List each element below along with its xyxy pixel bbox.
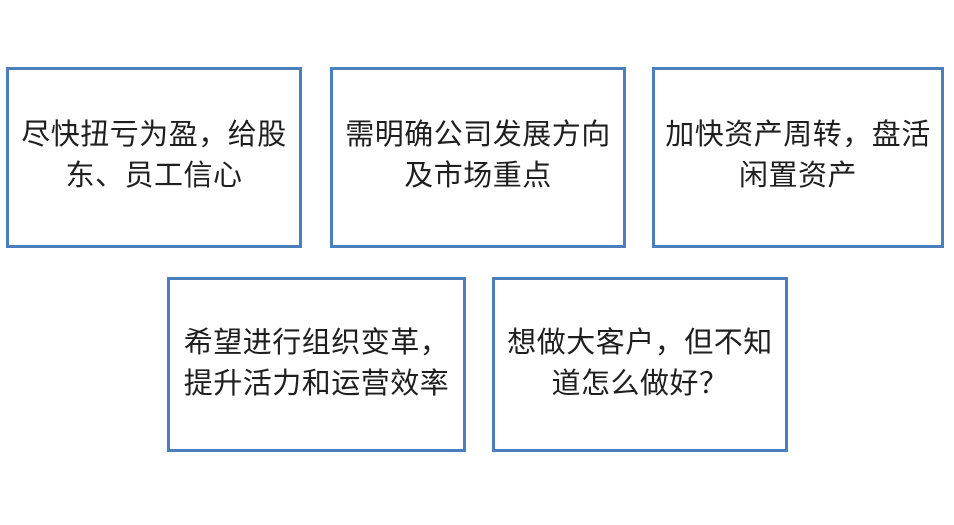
concern-box-asset-turnover-text: 加快资产周转，盘活 闲置资产: [655, 70, 941, 196]
concern-box-turnaround-profit[interactable]: 尽快扭亏为盈，给股 东、员工信心: [6, 67, 302, 248]
concern-box-asset-turnover[interactable]: 加快资产周转，盘活 闲置资产: [652, 67, 944, 248]
concern-box-strategic-direction-text: 需明确公司发展方向 及市场重点: [333, 70, 623, 196]
concern-box-organizational-change[interactable]: 希望进行组织变革， 提升活力和运营效率: [167, 277, 466, 452]
concern-box-organizational-change-text: 希望进行组织变革， 提升活力和运营效率: [170, 280, 463, 404]
concern-box-strategic-direction[interactable]: 需明确公司发展方向 及市场重点: [330, 67, 626, 248]
slide-canvas: 尽快扭亏为盈，给股 东、员工信心 需明确公司发展方向 及市场重点 加快资产周转，…: [0, 0, 954, 525]
concern-box-turnaround-profit-text: 尽快扭亏为盈，给股 东、员工信心: [9, 70, 299, 196]
concern-box-key-accounts-text: 想做大客户，但不知 道怎么做好？: [495, 280, 785, 404]
concern-box-key-accounts[interactable]: 想做大客户，但不知 道怎么做好？: [492, 277, 788, 452]
